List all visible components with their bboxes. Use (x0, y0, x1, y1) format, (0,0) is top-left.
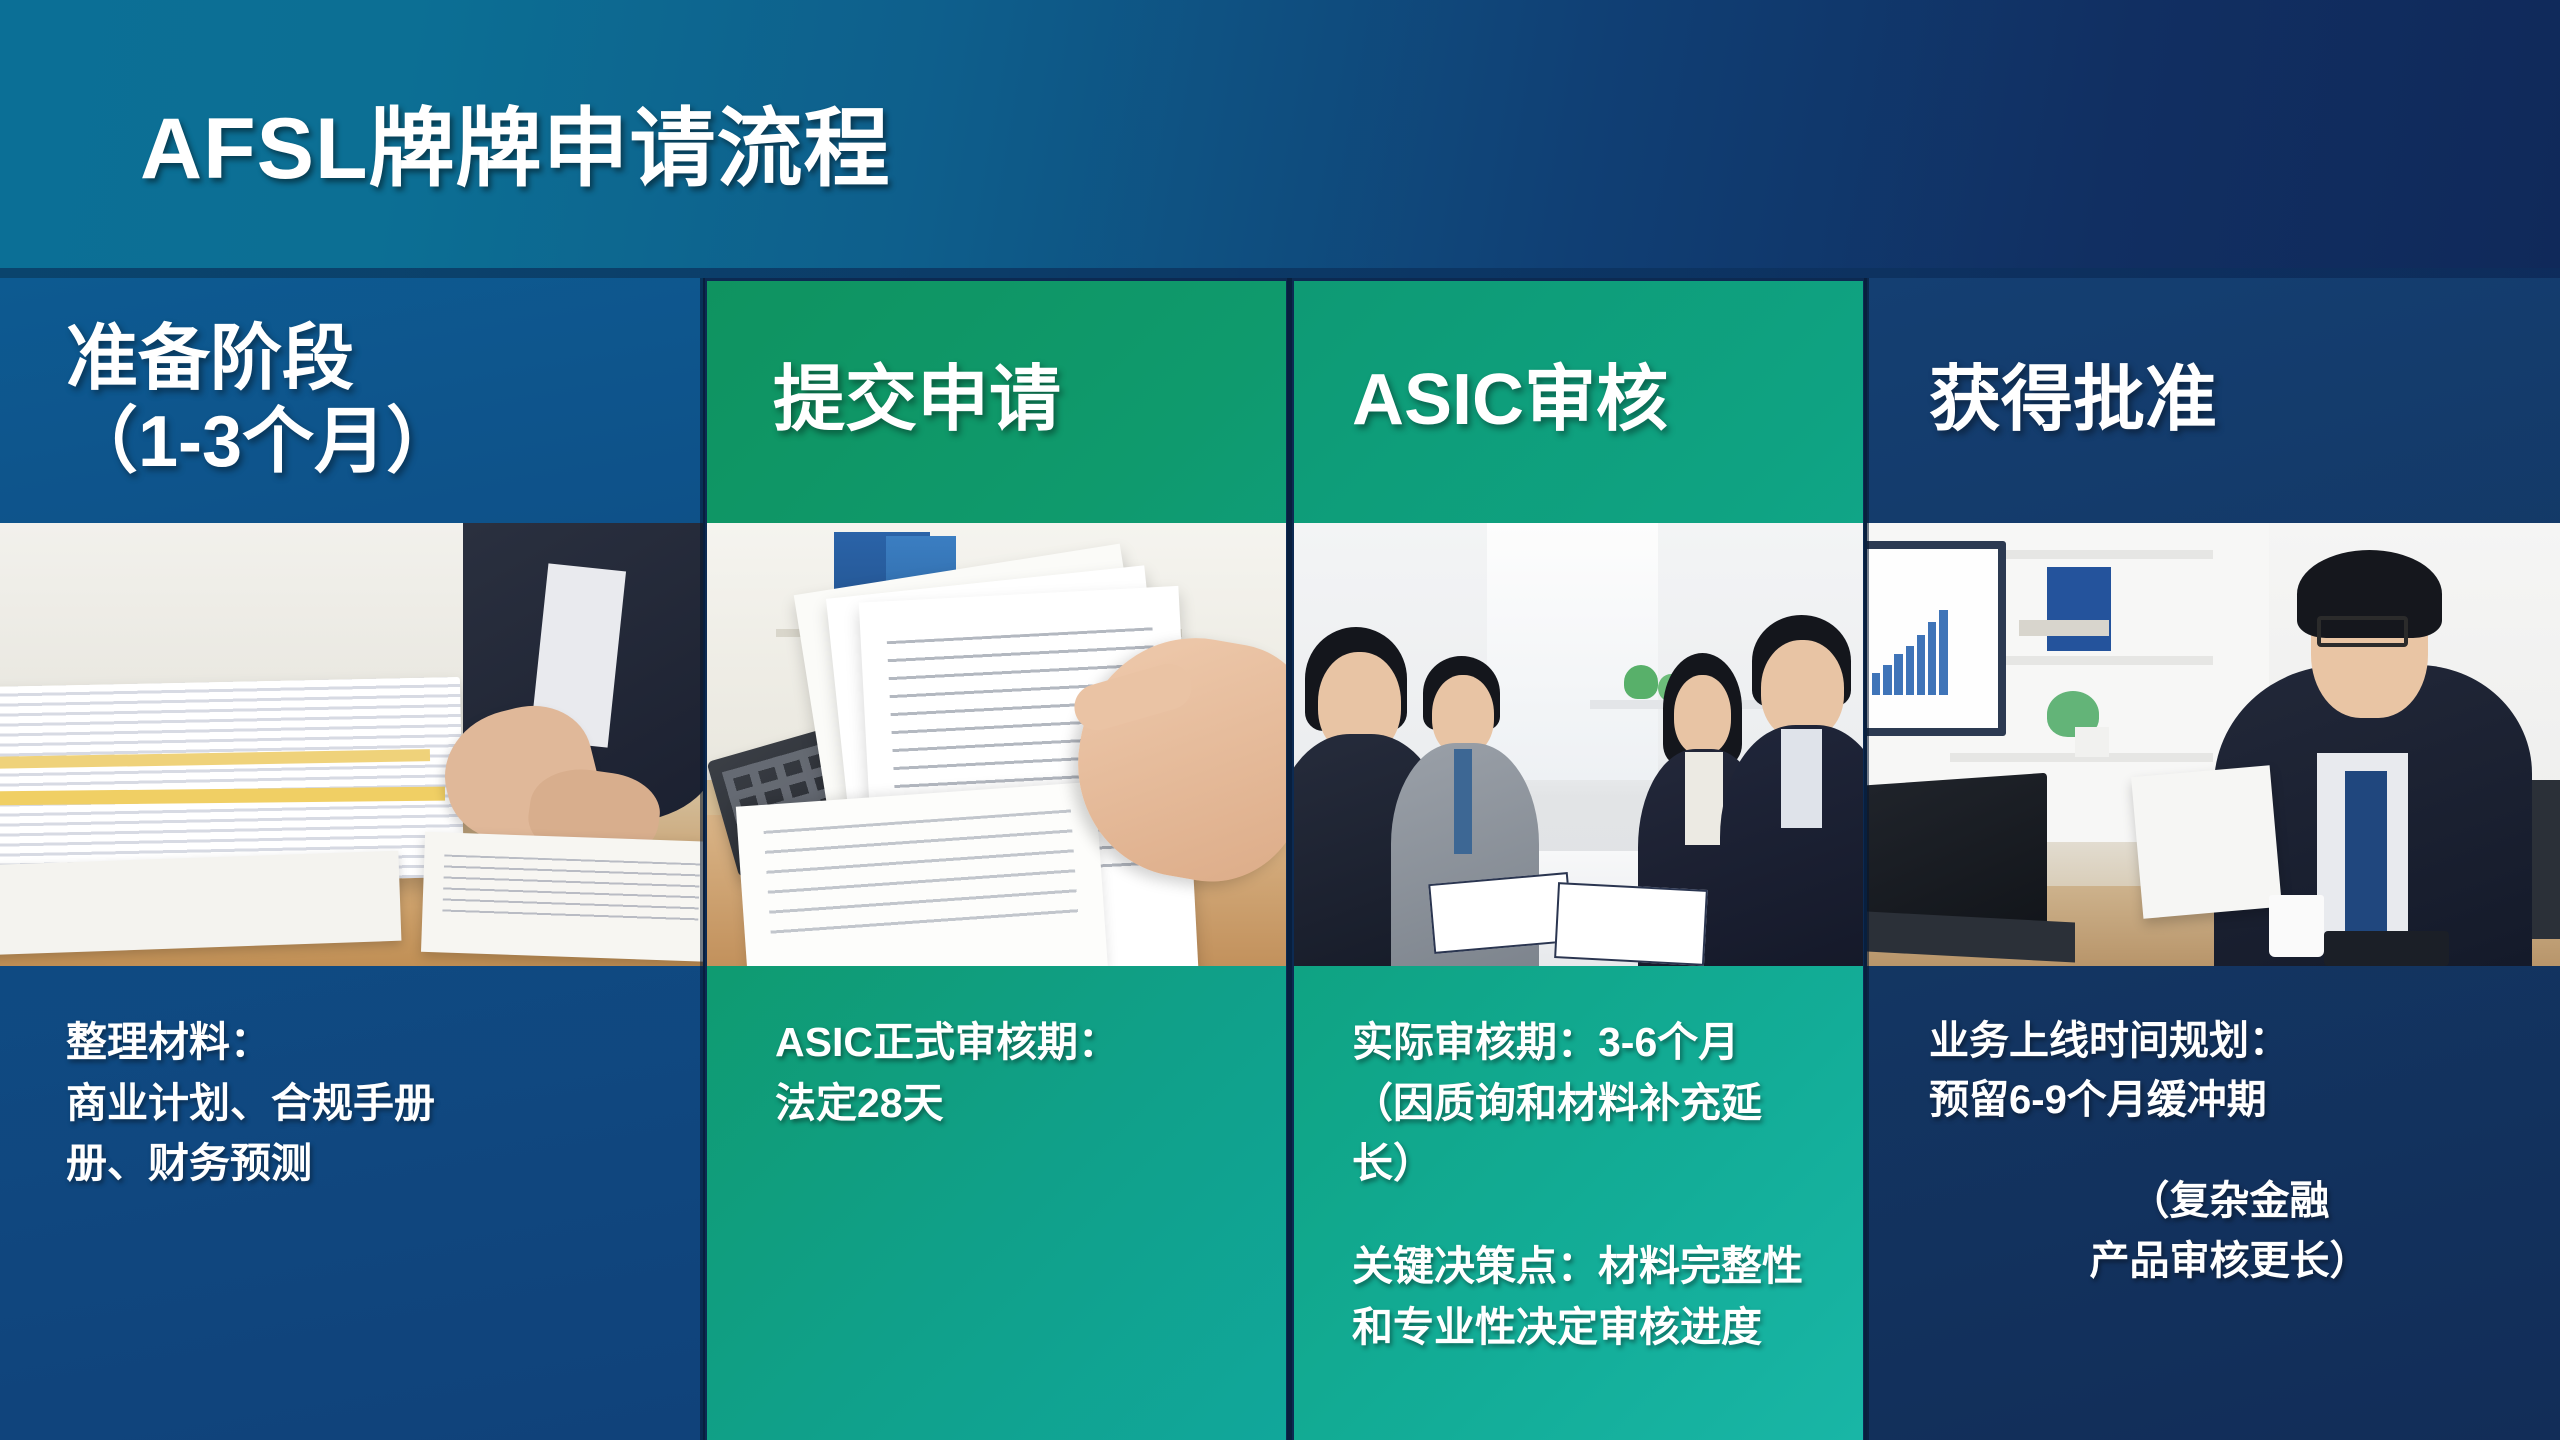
process-columns: 准备阶段 （1-3个月） 整理材料： 商业计划、合 (0, 278, 2560, 1440)
step-image (1294, 523, 1863, 966)
step-text-band: 业务上线时间规划： 预留6-9个月缓冲期 （复杂金融 产品审核更长） (1867, 966, 2560, 1440)
step-title: 准备阶段 （1-3个月） (66, 318, 458, 482)
application-pages-photo (707, 523, 1286, 966)
team-meeting-photo (1294, 523, 1863, 966)
step-text-band: 实际审核期：3-6个月 （因质询和材料补充延 长） 关键决策点：材料完整性 和专… (1290, 966, 1867, 1440)
page-header: AFSL牌牌申请流程 (0, 0, 2560, 278)
step-text-band: 整理材料： 商业计划、合规手册 册、财务预测 (0, 966, 703, 1440)
process-step-submit-application[interactable]: 提交申请 ASIC正式审核期 (703, 278, 1290, 1440)
step-title-band: 获得批准 (1867, 278, 2560, 523)
step-image (0, 523, 703, 966)
documents-stack-photo (0, 523, 703, 966)
step-paragraph: 整理材料： 商业计划、合规手册 册、财务预测 (66, 1012, 673, 1194)
step-paragraph: 业务上线时间规划： 预留6-9个月缓冲期 (1929, 1012, 2530, 1130)
page-title: AFSL牌牌申请流程 (140, 78, 891, 203)
column-separator (1864, 278, 1869, 1440)
process-step-asic-review[interactable]: ASIC审核 实际审核期：3-6个月 （因质询和材 (1290, 278, 1867, 1440)
process-step-approval-granted[interactable]: 获得批准 (1867, 278, 2560, 1440)
step-title: 获得批准 (1929, 359, 2217, 441)
step-text-band: ASIC正式审核期： 法定28天 (703, 966, 1290, 1440)
step-image (707, 523, 1286, 966)
step-paragraph: ASIC正式审核期： 法定28天 (775, 1012, 1264, 1133)
step-title-band: ASIC审核 (1290, 278, 1867, 523)
step-paragraph: （复杂金融 产品审核更长） (1929, 1172, 2530, 1290)
process-step-preparation[interactable]: 准备阶段 （1-3个月） 整理材料： 商业计划、合 (0, 278, 703, 1440)
step-title-band: 提交申请 (703, 278, 1290, 523)
step-title: ASIC审核 (1352, 359, 1668, 441)
step-paragraph: 关键决策点：材料完整性 和专业性决定审核进度 (1352, 1236, 1849, 1357)
step-paragraph: 实际审核期：3-6个月 （因质询和材料补充延 长） (1352, 1012, 1849, 1194)
column-separator (1287, 278, 1292, 1440)
column-separator (700, 278, 705, 1440)
executive-reviewing-document-photo (1867, 523, 2560, 966)
step-title: 提交申请 (773, 359, 1061, 441)
step-image (1867, 523, 2560, 966)
step-title-band: 准备阶段 （1-3个月） (0, 278, 703, 523)
